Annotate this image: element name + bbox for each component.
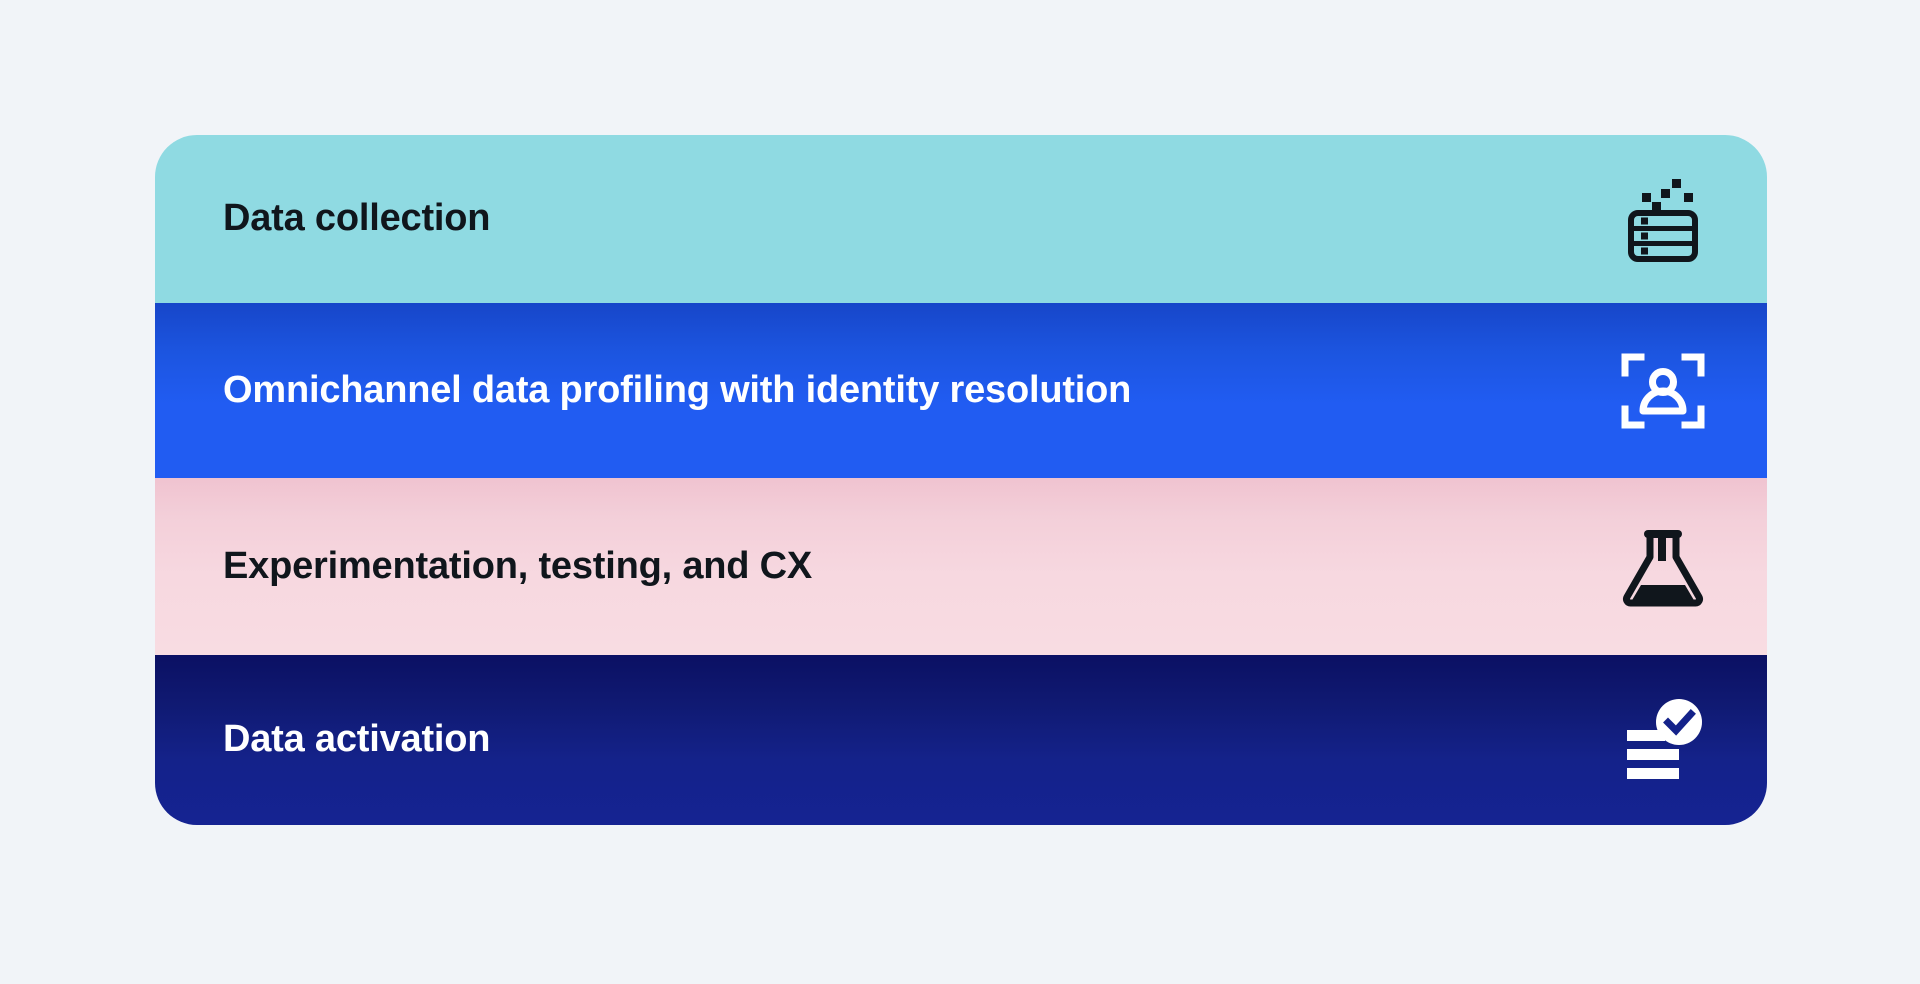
band-label-data-activation: Data activation	[223, 719, 490, 761]
list-check-icon	[1615, 692, 1711, 788]
band-experimentation[interactable]: Experimentation, testing, and CX	[155, 478, 1767, 655]
flask-icon	[1615, 519, 1711, 615]
band-label-data-collection: Data collection	[223, 198, 490, 240]
band-omnichannel-profiling[interactable]: Omnichannel data profiling with identity…	[155, 303, 1767, 478]
database-stack-icon	[1615, 171, 1711, 267]
band-data-collection[interactable]: Data collection	[155, 135, 1767, 303]
band-label-experimentation: Experimentation, testing, and CX	[223, 546, 812, 588]
band-label-omnichannel-profiling: Omnichannel data profiling with identity…	[223, 370, 1131, 412]
page-root: Data collection	[0, 0, 1920, 984]
identity-scan-icon	[1615, 343, 1711, 439]
band-data-activation[interactable]: Data activation	[155, 655, 1767, 825]
capability-stack-card: Data collection	[155, 135, 1767, 825]
